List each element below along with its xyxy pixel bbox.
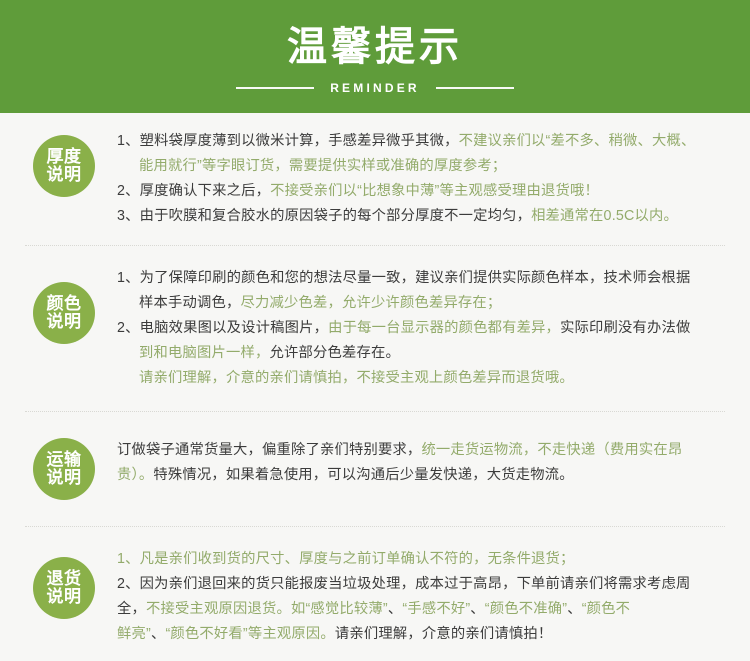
notice-text-segment: 订做袋子通常货量大，偏重除了亲们特别要求， [117, 442, 421, 458]
section-return: 退货说明1、凡是亲们收到货的尺寸、厚度与之前订单确认不符的，无条件退货；2、因为… [0, 527, 750, 661]
header-subtitle: REMINDER [330, 81, 420, 95]
badge-label-line2: 说明 [33, 469, 95, 487]
notice-line: 到和电脑图片一样，允许部分色差存在。 [117, 341, 722, 366]
notice-text-segment: 、 [470, 601, 485, 617]
notice-line: 2、因为亲们退回来的货只能报废当垃圾处理，成本过于高昂，下单前请亲们将需求考虑周 [117, 572, 722, 597]
notice-line: 能用就行”等字眼订货，需要提供实样或准确的厚度参考； [117, 154, 722, 179]
badge-color: 颜色说明 [33, 282, 95, 344]
notice-text-segment: 、 [388, 601, 403, 617]
notice-line: 请亲们理解，介意的亲们请慎拍，不接受主观上颜色差异而退货哦。 [117, 366, 722, 391]
notice-text-segment: 2、厚度确认下来之后， [117, 183, 270, 199]
notice-line: 订做袋子通常货量大，偏重除了亲们特别要求，统一走货运物流，不走快递（费用实在昂 [117, 438, 722, 463]
notice-text-segment: 2、电脑效果图以及设计稿图片， [117, 320, 328, 336]
notice-text-segment: 1、塑料袋厚度薄到以微米计算，手感差异微乎其微， [117, 133, 459, 149]
notice-text-segment: 1、凡是亲们收到货的尺寸、厚度与之前订单确认不符的，无条件退货； [117, 551, 575, 567]
notice-text-segment: 2、因为亲们退回来的货只能报废当垃圾处理，成本过于高昂，下单前请亲们将需求考虑周 [117, 576, 691, 592]
notice-text-segment: 尽力减少色差，允许少许颜色差异存在； [240, 295, 501, 311]
section-body-color: 1、为了保障印刷的颜色和您的想法尽量一致，建议亲们提供实际颜色样本，技术师会根据… [95, 266, 726, 391]
badge-thickness: 厚度说明 [33, 135, 95, 197]
notice-text-segment: 请亲们理解，介意的亲们请慎拍！ [335, 626, 552, 642]
notice-text-segment: “手感不好” [402, 601, 470, 617]
badge-label-line1: 颜色 [33, 295, 95, 313]
rule-left-decoration [236, 87, 314, 89]
notice-text-segment: 3、由于吹膜和复合胶水的原因袋子的每个部分厚度不一定均匀， [117, 208, 531, 224]
notice-line: 样本手动调色，尽力减少色差，允许少许颜色差异存在； [117, 291, 722, 316]
section-body-thickness: 1、塑料袋厚度薄到以微米计算，手感差异微乎其微，不建议亲们以“差不多、稍微、大概… [95, 129, 726, 229]
notice-line: 贵）。特殊情况，如果着急使用，可以沟通后少量发快递，大货走物流。 [117, 463, 722, 488]
page-header: 温馨提示 REMINDER [0, 0, 750, 113]
badge-label-line1: 运输 [33, 451, 95, 469]
notice-text-segment: 请亲们理解，介意的亲们请慎拍，不接受主观上颜色差异而退货哦。 [139, 370, 574, 386]
notice-text-segment: 样本手动调色， [139, 295, 240, 311]
notice-text-segment: 到和电脑图片一样， [139, 345, 269, 361]
notice-text-segment: 、 [151, 626, 166, 642]
notice-text-segment: 能用就行”等字眼订货，需要提供实样或准确的厚度参考； [139, 158, 506, 174]
notice-text-segment: 不建议亲们以“差不多、稍微、大概、 [459, 133, 696, 149]
notice-text-segment: 相差通常在0.5C以内。 [531, 208, 678, 224]
badge-return: 退货说明 [33, 557, 95, 619]
notice-text-segment: “颜色不好看”等主观原因。 [165, 626, 334, 642]
badge-label-line2: 说明 [33, 588, 95, 606]
section-transport: 运输说明订做袋子通常货量大，偏重除了亲们特别要求，统一走货运物流，不走快递（费用… [0, 412, 750, 526]
notice-line: 2、厚度确认下来之后，不接受亲们以“比想象中薄”等主观感受理由退货哦！ [117, 179, 722, 204]
notice-line: 3、由于吹膜和复合胶水的原因袋子的每个部分厚度不一定均匀，相差通常在0.5C以内… [117, 204, 722, 229]
notice-text-segment: 允许部分色差存在。 [269, 345, 399, 361]
notice-sections: 厚度说明1、塑料袋厚度薄到以微米计算，手感差异微乎其微，不建议亲们以“差不多、稍… [0, 113, 750, 661]
badge-transport: 运输说明 [33, 438, 95, 500]
section-body-transport: 订做袋子通常货量大，偏重除了亲们特别要求，统一走货运物流，不走快递（费用实在昂贵… [95, 438, 726, 488]
notice-line: 1、塑料袋厚度薄到以微米计算，手感差异微乎其微，不建议亲们以“差不多、稍微、大概… [117, 129, 722, 154]
page-title: 温馨提示 [287, 24, 463, 70]
notice-text-segment: “颜色不 [582, 601, 630, 617]
header-subtitle-group: REMINDER [236, 81, 514, 95]
notice-text-segment: 1、为了保障印刷的颜色和您的想法尽量一致，建议亲们提供实际颜色样本，技术师会根据 [117, 270, 691, 286]
section-thickness: 厚度说明1、塑料袋厚度薄到以微米计算，手感差异微乎其微，不建议亲们以“差不多、稍… [0, 113, 750, 245]
notice-line: 1、为了保障印刷的颜色和您的想法尽量一致，建议亲们提供实际颜色样本，技术师会根据 [117, 266, 722, 291]
notice-text-segment: 鲜亮” [117, 626, 151, 642]
notice-text-segment: 、 [567, 601, 582, 617]
notice-text-segment: 实际印刷没有办法做 [560, 320, 690, 336]
notice-text-segment: 不接受主观原因退货。如“感觉比较薄” [146, 601, 388, 617]
notice-line: 鲜亮”、“颜色不好看”等主观原因。请亲们理解，介意的亲们请慎拍！ [117, 622, 722, 647]
notice-text-segment: 贵）。 [117, 467, 153, 483]
notice-line: 2、电脑效果图以及设计稿图片，由于每一台显示器的颜色都有差异，实际印刷没有办法做 [117, 316, 722, 341]
notice-text-segment: 不接受亲们以“比想象中薄”等主观感受理由退货哦！ [270, 183, 599, 199]
badge-label-line2: 说明 [33, 166, 95, 184]
badge-label-line1: 厚度 [33, 148, 95, 166]
notice-text-segment: 特殊情况，如果着急使用，可以沟通后少量发快递，大货走物流。 [153, 467, 573, 483]
notice-text-segment: 由于每一台显示器的颜色都有差异， [328, 320, 560, 336]
badge-label-line2: 说明 [33, 313, 95, 331]
section-color: 颜色说明1、为了保障印刷的颜色和您的想法尽量一致，建议亲们提供实际颜色样本，技术… [0, 246, 750, 411]
notice-line: 1、凡是亲们收到货的尺寸、厚度与之前订单确认不符的，无条件退货； [117, 547, 722, 572]
notice-text-segment: 全， [117, 601, 146, 617]
section-body-return: 1、凡是亲们收到货的尺寸、厚度与之前订单确认不符的，无条件退货；2、因为亲们退回… [95, 547, 726, 647]
notice-text-segment: 统一走货运物流，不走快递（费用实在昂 [421, 442, 682, 458]
notice-line: 全，不接受主观原因退货。如“感觉比较薄”、“手感不好”、“颜色不准确”、“颜色不 [117, 597, 722, 622]
rule-right-decoration [436, 87, 514, 89]
badge-label-line1: 退货 [33, 570, 95, 588]
notice-text-segment: “颜色不准确” [485, 601, 567, 617]
